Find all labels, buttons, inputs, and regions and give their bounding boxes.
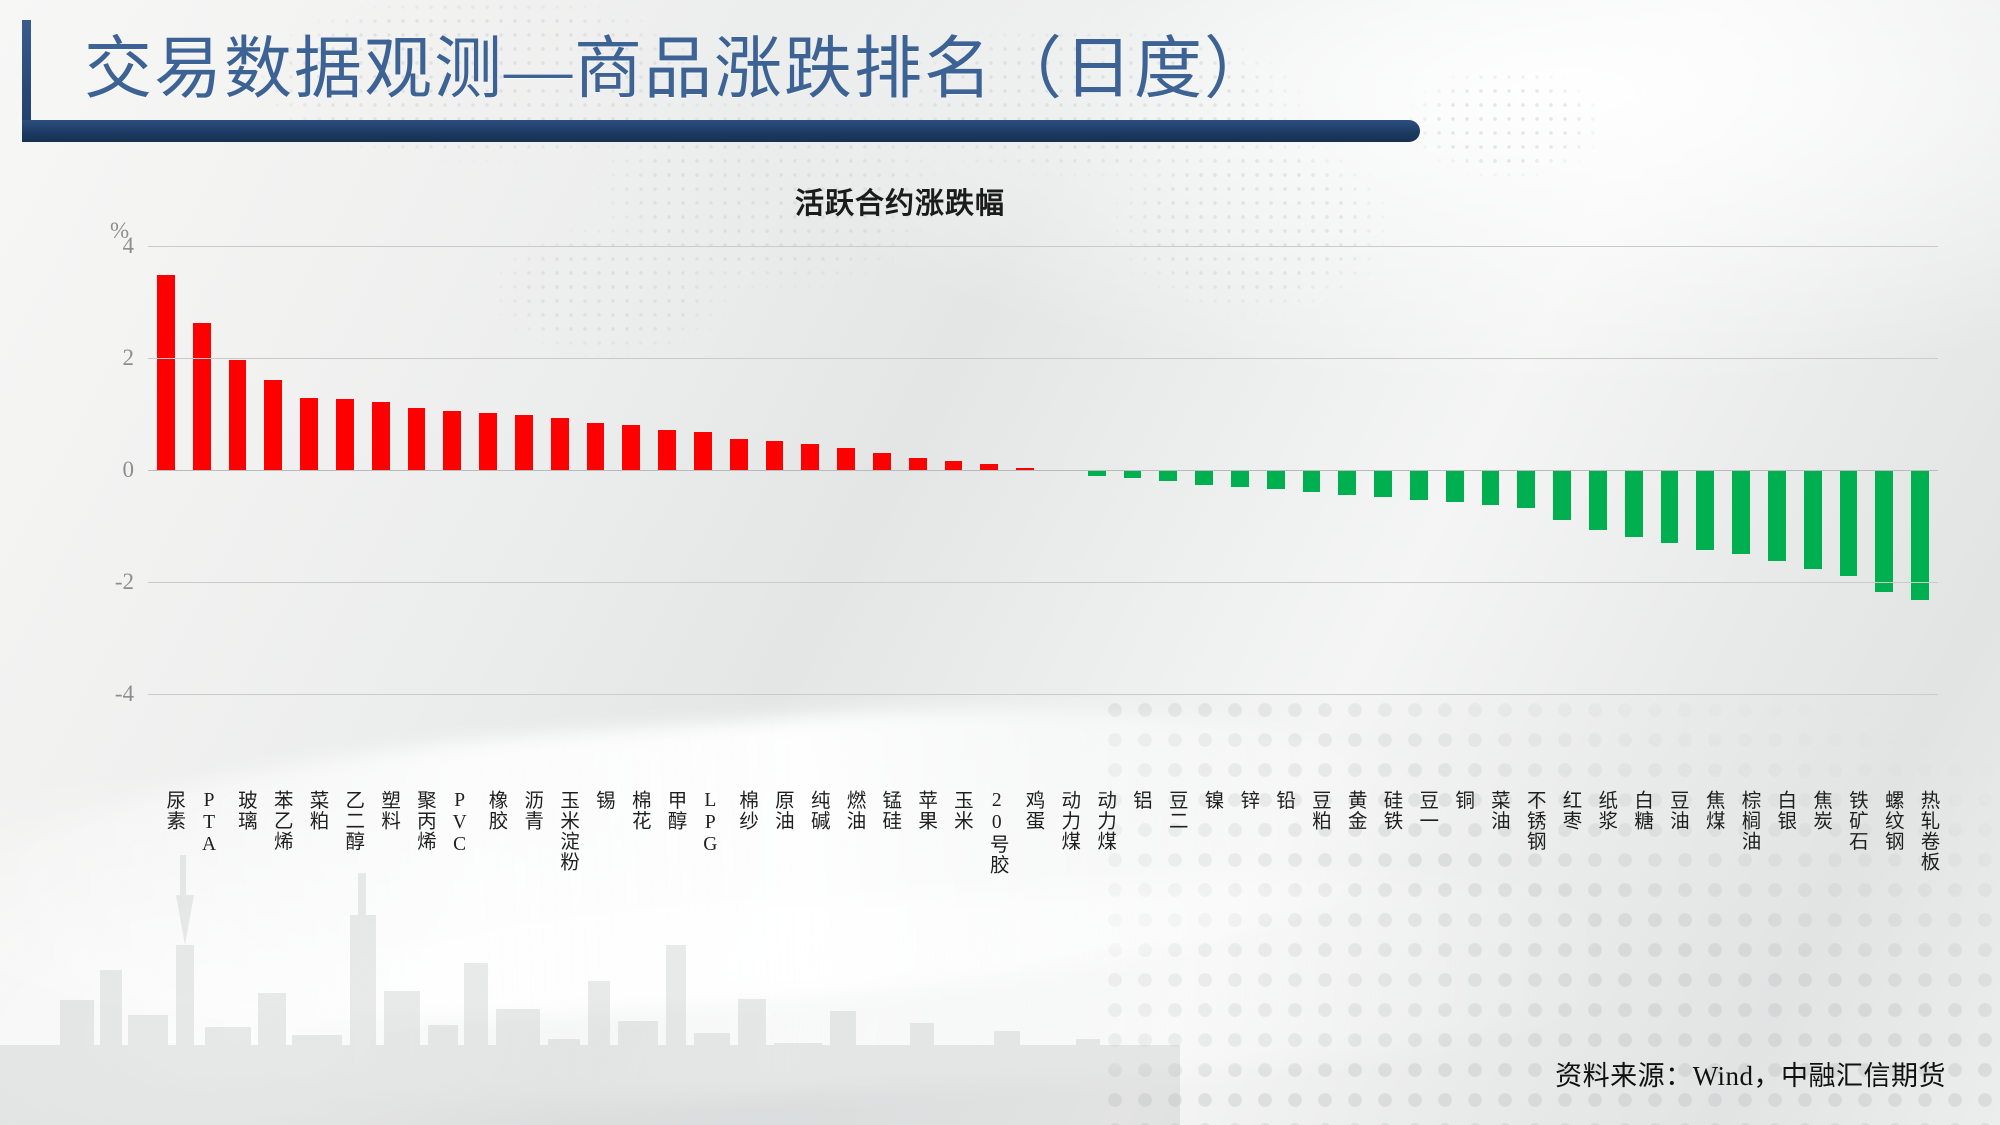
x-axis-tick-label: 鸡蛋 xyxy=(1007,790,1043,831)
page-title: 交易数据观测—商品涨跌排名（日度） xyxy=(84,26,1274,112)
x-axis-tick-label: 焦炭 xyxy=(1795,790,1831,831)
x-axis-tick-label: 锡 xyxy=(578,790,614,811)
bar[interactable] xyxy=(1446,470,1464,502)
x-axis-tick-label: 白糖 xyxy=(1616,790,1652,831)
bar[interactable] xyxy=(264,380,282,470)
gridline-0 xyxy=(148,470,1938,471)
bar[interactable] xyxy=(766,441,784,470)
x-axis-tick-label: 原油 xyxy=(757,790,793,831)
bar[interactable] xyxy=(1374,470,1392,497)
x-axis-tick-label: 不锈钢 xyxy=(1508,790,1544,852)
x-axis-tick-label: PTA xyxy=(184,790,220,856)
slide-root: 交易数据观测—商品涨跌排名（日度） 活跃合约涨跌幅 % 420-2-4 尿素PT… xyxy=(0,0,2000,1125)
gridline--2 xyxy=(148,582,1938,583)
x-axis-tick-label: 动力煤 xyxy=(1043,790,1079,852)
x-axis-tick-label: PVC xyxy=(434,790,470,856)
x-axis-tick-label: 镍 xyxy=(1186,790,1222,811)
x-axis-tick-label: 铅 xyxy=(1258,790,1294,811)
x-axis-tick-label: 锰硅 xyxy=(864,790,900,831)
bar[interactable] xyxy=(1840,470,1858,576)
bar[interactable] xyxy=(479,413,497,470)
x-axis-tick-label: 沥青 xyxy=(506,790,542,831)
x-axis-tick-label: 豆一 xyxy=(1401,790,1437,831)
x-axis-tick-label: 聚丙烯 xyxy=(399,790,435,852)
y-axis-tick-label: 2 xyxy=(123,345,135,371)
bar[interactable] xyxy=(622,425,640,470)
x-axis-tick-label: 纸浆 xyxy=(1580,790,1616,831)
x-axis-tick-label: 红枣 xyxy=(1544,790,1580,831)
bar[interactable] xyxy=(1195,470,1213,485)
bar[interactable] xyxy=(1553,470,1571,520)
bar[interactable] xyxy=(694,432,712,470)
x-axis-tick-label: 尿素 xyxy=(148,790,184,831)
x-axis-tick-label: 热轧卷板 xyxy=(1902,790,1938,872)
bar[interactable] xyxy=(1732,470,1750,554)
bar[interactable] xyxy=(837,448,855,470)
x-axis-tick-label: 豆二 xyxy=(1150,790,1186,831)
x-axis-tick-label: 棉花 xyxy=(613,790,649,831)
x-axis-tick-label: 玻璃 xyxy=(220,790,256,831)
bar[interactable] xyxy=(1124,470,1142,478)
bar[interactable] xyxy=(873,453,891,470)
bar[interactable] xyxy=(515,415,533,470)
x-axis-tick-label: 铜 xyxy=(1437,790,1473,811)
bar[interactable] xyxy=(336,399,354,470)
bar[interactable] xyxy=(1625,470,1643,537)
x-axis-tick-label: 玉米 xyxy=(936,790,972,831)
x-axis-tick-label: 棉纱 xyxy=(721,790,757,831)
x-axis-tick-label: 燃油 xyxy=(828,790,864,831)
x-axis-tick-label: 塑料 xyxy=(363,790,399,831)
bar[interactable] xyxy=(658,430,676,470)
bar[interactable] xyxy=(1303,470,1321,492)
source-note: 资料来源：Wind，中融汇信期货 xyxy=(1555,1054,1946,1093)
bar[interactable] xyxy=(408,408,426,470)
x-axis-tick-label: 棕榈油 xyxy=(1723,790,1759,852)
bar[interactable] xyxy=(1911,470,1929,600)
y-axis-tick-label: -2 xyxy=(115,569,134,595)
bar[interactable] xyxy=(300,398,318,470)
bar[interactable] xyxy=(1410,470,1428,500)
x-axis-tick-label: 白银 xyxy=(1759,790,1795,831)
x-axis-tick-label: 螺纹钢 xyxy=(1866,790,1902,852)
x-axis-tick-label: 橡胶 xyxy=(470,790,506,831)
bar[interactable] xyxy=(587,423,605,470)
x-axis-tick-label: 甲醇 xyxy=(649,790,685,831)
bar[interactable] xyxy=(1589,470,1607,530)
bar[interactable] xyxy=(443,411,461,470)
bar[interactable] xyxy=(551,418,569,470)
x-axis-tick-label: 铝 xyxy=(1115,790,1151,811)
x-axis-tick-label: 硅铁 xyxy=(1365,790,1401,831)
bar[interactable] xyxy=(1768,470,1786,561)
bar[interactable] xyxy=(193,323,211,470)
bar[interactable] xyxy=(229,360,247,470)
x-axis-tick-label: 豆油 xyxy=(1652,790,1688,831)
x-axis-tick-label: 动力煤 xyxy=(1079,790,1115,852)
chart-plot-area: 420-2-4 xyxy=(148,246,1938,694)
bar[interactable] xyxy=(1267,470,1285,489)
x-axis-tick-label: 乙二醇 xyxy=(327,790,363,852)
bar[interactable] xyxy=(1517,470,1535,508)
bar[interactable] xyxy=(1696,470,1714,550)
y-axis-tick-label: -4 xyxy=(115,681,134,707)
x-axis-tick-label: 菜油 xyxy=(1473,790,1509,831)
bar[interactable] xyxy=(909,458,927,470)
x-axis-tick-label: 黄金 xyxy=(1329,790,1365,831)
x-axis-tick-label: 20号胶 xyxy=(971,790,1007,875)
x-axis-tick-label: 菜粕 xyxy=(291,790,327,831)
x-axis-tick-label: 苹果 xyxy=(900,790,936,831)
bar[interactable] xyxy=(1159,470,1177,481)
x-axis-tick-label: 苯乙烯 xyxy=(255,790,291,852)
gridline-4 xyxy=(148,246,1938,247)
bar[interactable] xyxy=(157,275,175,470)
bar[interactable] xyxy=(945,461,963,470)
x-axis-category-labels: 尿素PTA玻璃苯乙烯菜粕乙二醇塑料聚丙烯PVC橡胶沥青玉米淀粉锡棉花甲醇LPG棉… xyxy=(148,790,1938,960)
bar[interactable] xyxy=(1482,470,1500,505)
bar[interactable] xyxy=(1231,470,1249,487)
gridline-2 xyxy=(148,358,1938,359)
bar[interactable] xyxy=(801,444,819,470)
x-axis-tick-label: 焦煤 xyxy=(1687,790,1723,831)
bar[interactable] xyxy=(1338,470,1356,495)
x-axis-tick-label: 玉米淀粉 xyxy=(542,790,578,872)
bar[interactable] xyxy=(1661,470,1679,543)
header-accent-bar xyxy=(22,120,1420,142)
x-axis-tick-label: 纯碱 xyxy=(792,790,828,831)
bar[interactable] xyxy=(372,402,390,470)
x-axis-tick-label: 豆粕 xyxy=(1294,790,1330,831)
chart-title: 活跃合约涨跌幅 xyxy=(0,180,1800,222)
x-axis-tick-label: 铁矿石 xyxy=(1831,790,1867,852)
bar[interactable] xyxy=(1804,470,1822,569)
gridline--4 xyxy=(148,694,1938,695)
y-axis-tick-label: 0 xyxy=(123,457,135,483)
y-axis-tick-label: 4 xyxy=(123,233,135,259)
bar[interactable] xyxy=(1875,470,1893,592)
chart-container: 活跃合约涨跌幅 % 420-2-4 尿素PTA玻璃苯乙烯菜粕乙二醇塑料聚丙烯PV… xyxy=(0,150,2000,940)
x-axis-tick-label: 锌 xyxy=(1222,790,1258,811)
bar[interactable] xyxy=(730,439,748,470)
x-axis-tick-label: LPG xyxy=(685,790,721,856)
